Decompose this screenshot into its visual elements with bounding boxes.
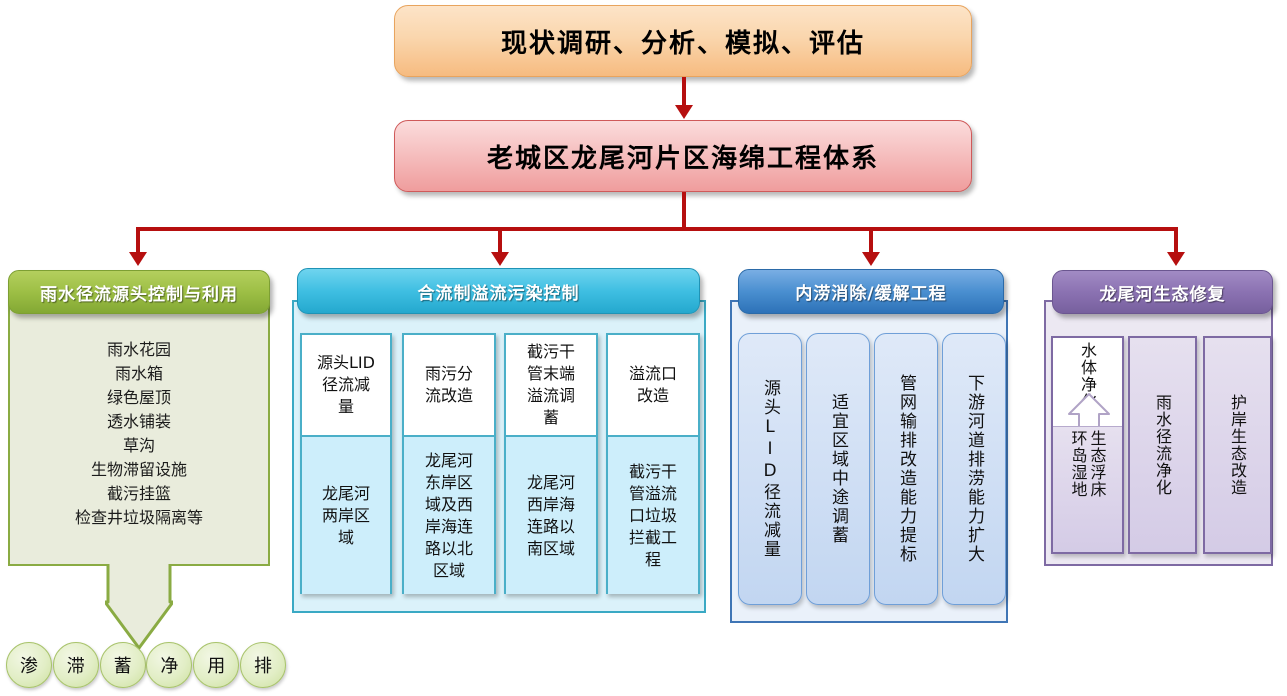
eco-method-label: 环岛湿地 [1069,430,1088,498]
connector-drop-purple [1174,227,1178,255]
cso-measure-card[interactable]: 截污干管末端溢流调蓄 龙尾河西岸海连路以南区域 [504,333,598,594]
eco-runoff-purification-label: 雨水径流净化 [1153,394,1172,496]
header-river-ecological-restoration[interactable]: 龙尾河生态修复 [1052,270,1273,314]
cso-measure-area-label: 龙尾河两岸区域 [322,483,370,549]
cso-measure-card[interactable]: 雨污分流改造 龙尾河东岸区域及西岸海连路以北区域 [402,333,496,594]
cso-measure-area: 龙尾河西岸海连路以南区域 [506,437,596,594]
cso-measure-title: 截污干管末端溢流调蓄 [506,335,596,437]
list-item: 透水铺装 [10,410,268,434]
connector-trunk-horizontal [136,227,1178,231]
list-item: 草沟 [10,434,268,458]
cso-measure-card[interactable]: 源头LID径流减量 龙尾河两岸区域 [300,333,392,594]
list-item: 截污挂篮 [10,482,268,506]
box-sponge-engineering-system: 老城区龙尾河片区海绵工程体系 [394,120,972,192]
connector-drop-blue [869,227,873,255]
box-sponge-engineering-system-label: 老城区龙尾河片区海绵工程体系 [487,138,879,175]
connector-drop-blue-arrowhead [862,252,880,266]
connector-drop-cyan [498,227,502,255]
waterlogging-measure-label: 适宜区域中途调蓄 [828,393,848,545]
waterlogging-measure-card[interactable]: 下游河道排涝能力扩大 [942,333,1006,605]
cso-measure-title-label: 溢流口改造 [629,363,677,407]
cso-measure-area: 龙尾河东岸区域及西岸海连路以北区域 [404,437,494,594]
eco-method-label: 生态浮床 [1088,430,1107,498]
connector-trunk-vertical [682,192,686,230]
cso-measure-card[interactable]: 溢流口改造 截污干管溢流口垃圾拦截工程 [606,333,700,594]
outcome-circle[interactable]: 排 [240,642,286,688]
box-current-situation-survey: 现状调研、分析、模拟、评估 [394,5,972,77]
outcome-label: 排 [254,652,272,678]
cso-measure-area: 龙尾河两岸区域 [302,437,390,594]
cso-measure-area: 截污干管溢流口垃圾拦截工程 [608,437,698,594]
outcome-label: 渗 [20,652,38,678]
cso-measure-title: 溢流口改造 [608,335,698,437]
waterlogging-measure-label: 源头LID径流减量 [760,379,780,559]
cso-measure-area-label: 截污干管溢流口垃圾拦截工程 [629,461,677,571]
waterlogging-measure-label: 下游河道排涝能力扩大 [964,374,984,564]
diagram-canvas: 现状调研、分析、模拟、评估 老城区龙尾河片区海绵工程体系 雨水径流源头控制与利用… [0,0,1287,696]
outcome-label: 滞 [67,652,85,678]
list-item: 绿色屋顶 [10,386,268,410]
list-item: 雨水花园 [10,338,268,362]
eco-runoff-purification-card[interactable]: 雨水径流净化 [1128,336,1197,554]
connector-drop-green [136,227,140,255]
waterlogging-measure-label: 管网输排改造能力提标 [896,374,916,564]
cso-measure-title-label: 源头LID径流减量 [317,352,375,418]
connector-survey-to-system-arrowhead [675,105,693,119]
eco-bank-restoration-label: 护岸生态改造 [1228,394,1247,496]
header-waterlogging-mitigation-label: 内涝消除/缓解工程 [795,279,946,304]
header-cso-pollution-control[interactable]: 合流制溢流污染控制 [297,268,700,314]
waterlogging-measure-card[interactable]: 适宜区域中途调蓄 [806,333,870,605]
outcome-circle[interactable]: 蓄 [100,642,146,688]
outcome-circle[interactable]: 用 [193,642,239,688]
connector-survey-to-system [682,77,686,107]
header-cso-pollution-control-label: 合流制溢流污染控制 [418,279,580,304]
list-item: 检查井垃圾隔离等 [10,506,268,530]
connector-drop-cyan-arrowhead [491,252,509,266]
header-runoff-source-control-label: 雨水径流源头控制与利用 [40,280,238,305]
connector-drop-green-arrowhead [129,252,147,266]
list-item: 生物滞留设施 [10,458,268,482]
waterlogging-measure-card[interactable]: 源头LID径流减量 [738,333,802,605]
waterlogging-measure-card[interactable]: 管网输排改造能力提标 [874,333,938,605]
cso-measure-area-label: 龙尾河西岸海连路以南区域 [527,472,575,560]
cso-measure-title-label: 截污干管末端溢流调蓄 [527,341,575,429]
outcome-circles: 渗 滞 蓄 净 用 排 [6,642,286,692]
outcome-label: 用 [207,652,225,678]
eco-water-purification-card[interactable]: 水体净化 生态浮床 环岛湿地 [1051,336,1124,554]
cso-measure-title-label: 雨污分流改造 [425,363,473,407]
list-item: 雨水箱 [10,362,268,386]
cso-measure-area-label: 龙尾河东岸区域及西岸海连路以北区域 [425,450,473,582]
box-current-situation-survey-label: 现状调研、分析、模拟、评估 [501,23,865,60]
outcome-circle[interactable]: 滞 [53,642,99,688]
list-runoff-measures: 雨水花园 雨水箱 绿色屋顶 透水铺装 草沟 生物滞留设施 截污挂篮 检查井垃圾隔… [10,338,268,530]
eco-bank-restoration-card[interactable]: 护岸生态改造 [1203,336,1272,554]
down-arrow-icon [105,560,173,650]
outcome-label: 蓄 [114,652,132,678]
header-runoff-source-control[interactable]: 雨水径流源头控制与利用 [8,270,270,314]
cso-measure-title: 源头LID径流减量 [302,335,390,437]
header-river-ecological-restoration-label: 龙尾河生态修复 [1100,280,1226,305]
connector-drop-purple-arrowhead [1167,252,1185,266]
outcome-circle[interactable]: 渗 [6,642,52,688]
cso-measure-title: 雨污分流改造 [404,335,494,437]
outcome-label: 净 [160,652,178,678]
outcome-circle[interactable]: 净 [146,642,192,688]
eco-water-purification-methods: 生态浮床 环岛湿地 [1053,426,1122,552]
header-waterlogging-mitigation[interactable]: 内涝消除/缓解工程 [738,269,1004,314]
